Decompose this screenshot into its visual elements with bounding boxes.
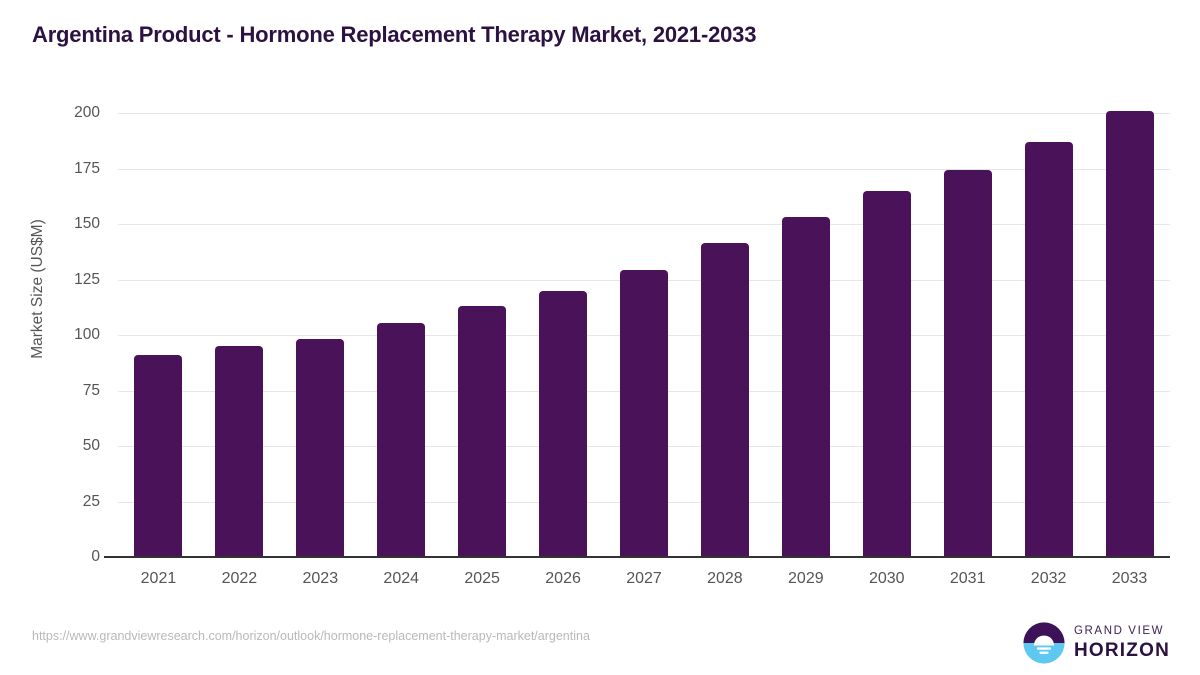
y-tick-label: 75 [30, 382, 100, 400]
y-tick-label: 100 [30, 326, 100, 344]
x-tick-label: 2027 [604, 570, 685, 588]
y-tick-label: 175 [30, 160, 100, 178]
horizon-circle-icon [1023, 622, 1065, 664]
y-tick-label: 0 [30, 548, 100, 566]
x-axis-tick-labels: 2021202220232024202520262027202820292030… [118, 570, 1170, 598]
y-tick-label: 25 [30, 493, 100, 511]
bar[interactable] [782, 217, 830, 557]
x-tick-label: 2022 [199, 570, 280, 588]
bar[interactable] [215, 346, 263, 557]
logo-wordmark: GRAND VIEW HORIZON [1074, 626, 1170, 661]
x-tick-label: 2029 [765, 570, 846, 588]
bar[interactable] [377, 323, 425, 557]
bar[interactable] [134, 355, 182, 557]
y-axis-tick-labels: 0255075100125150175200 [30, 113, 100, 557]
bar[interactable] [701, 243, 749, 557]
bar[interactable] [863, 191, 911, 557]
grand-view-horizon-logo[interactable]: GRAND VIEW HORIZON [1023, 620, 1170, 666]
source-url[interactable]: https://www.grandviewresearch.com/horizo… [32, 629, 590, 643]
bar[interactable] [944, 170, 992, 557]
x-tick-label: 2032 [1008, 570, 1089, 588]
y-tick-label: 125 [30, 271, 100, 289]
y-tick-label: 50 [30, 437, 100, 455]
x-tick-label: 2028 [684, 570, 765, 588]
bar-series [118, 113, 1170, 557]
x-tick-label: 2024 [361, 570, 442, 588]
bar[interactable] [620, 270, 668, 557]
y-tick-label: 200 [30, 104, 100, 122]
bar[interactable] [1025, 142, 1073, 557]
y-tick-label: 150 [30, 215, 100, 233]
logo-line-horizon: HORIZON [1074, 641, 1170, 660]
x-tick-label: 2031 [927, 570, 1008, 588]
x-tick-label: 2023 [280, 570, 361, 588]
bar[interactable] [1106, 111, 1154, 557]
chart-canvas: Argentina Product - Hormone Replacement … [0, 0, 1200, 675]
bar[interactable] [458, 306, 506, 557]
x-tick-label: 2033 [1089, 570, 1170, 588]
bar[interactable] [539, 291, 587, 557]
x-tick-label: 2021 [118, 570, 199, 588]
x-axis-line [104, 556, 1170, 558]
chart-title: Argentina Product - Hormone Replacement … [32, 22, 756, 48]
x-tick-label: 2026 [523, 570, 604, 588]
x-tick-label: 2025 [442, 570, 523, 588]
logo-line-grand-view: GRAND VIEW [1074, 626, 1170, 638]
x-tick-label: 2030 [846, 570, 927, 588]
bar[interactable] [296, 339, 344, 557]
